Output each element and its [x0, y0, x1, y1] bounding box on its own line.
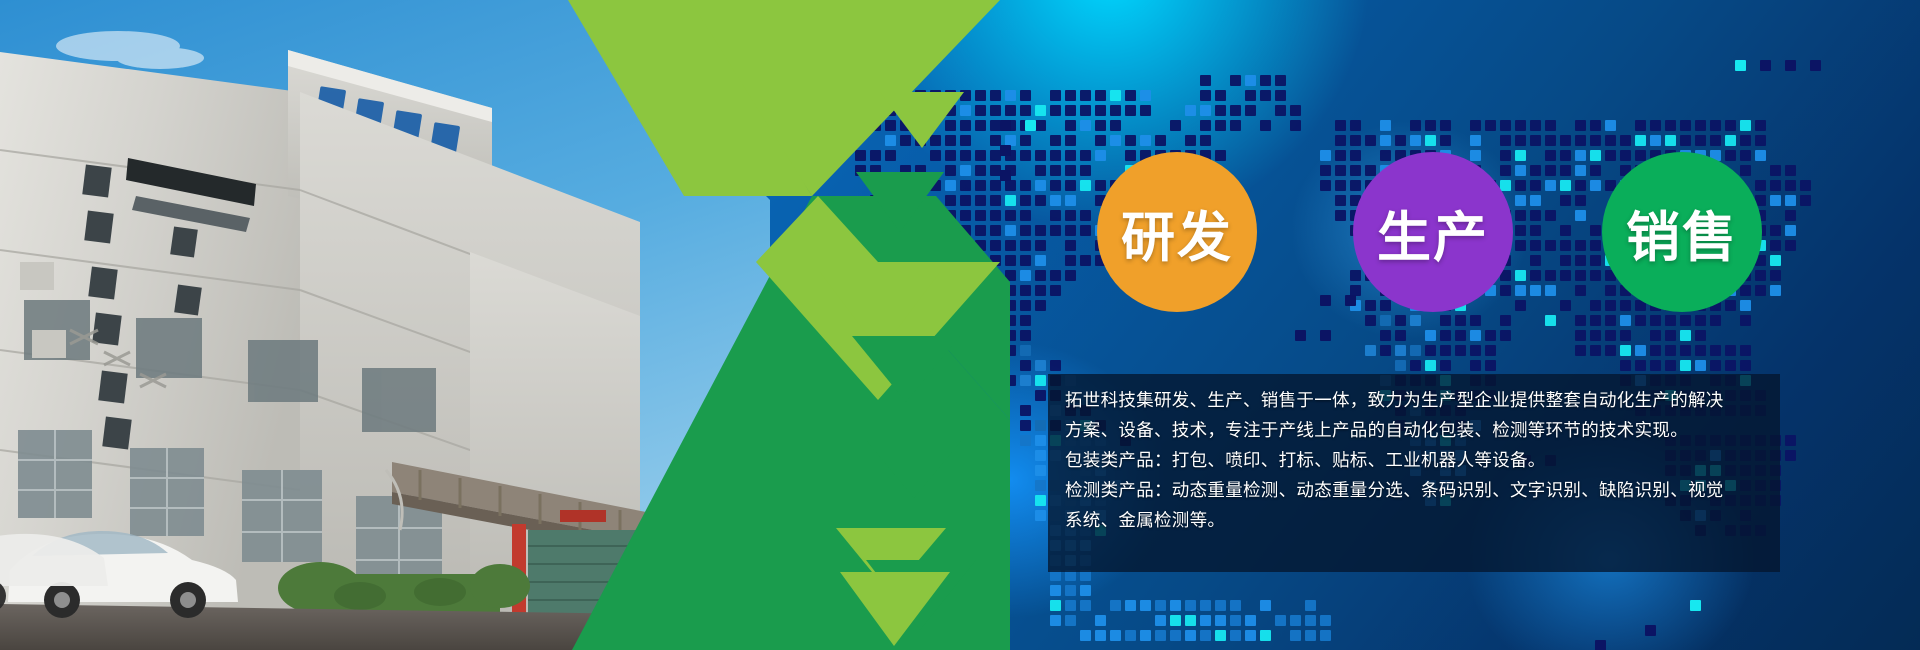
map-dot	[1560, 270, 1571, 281]
map-dot	[1545, 285, 1556, 296]
map-dot	[975, 195, 986, 206]
map-dot	[960, 165, 971, 176]
map-dot	[1695, 120, 1706, 131]
map-dot	[1575, 135, 1586, 146]
map-dot	[1020, 270, 1031, 281]
map-dot	[1575, 240, 1586, 251]
map-dot	[1785, 435, 1796, 446]
map-dot	[1560, 165, 1571, 176]
map-dot	[1515, 270, 1526, 281]
map-dot	[1125, 630, 1136, 641]
map-dot	[1680, 330, 1691, 341]
map-dot	[1530, 285, 1541, 296]
map-dot	[990, 225, 1001, 236]
map-dot	[1650, 120, 1661, 131]
map-dot	[1110, 600, 1121, 611]
map-dot	[1470, 315, 1481, 326]
map-dot	[1470, 135, 1481, 146]
map-dot	[1620, 330, 1631, 341]
map-dot	[1530, 195, 1541, 206]
map-dot	[1770, 180, 1781, 191]
map-dot	[1605, 150, 1616, 161]
map-dot	[930, 285, 941, 296]
map-dot	[915, 135, 926, 146]
map-dot	[1710, 345, 1721, 356]
map-dot	[1500, 315, 1511, 326]
map-dot	[1020, 180, 1031, 191]
map-dot	[990, 315, 1001, 326]
map-dot	[1080, 600, 1091, 611]
map-dot	[1380, 150, 1391, 161]
map-dot	[1755, 120, 1766, 131]
map-dot	[1095, 150, 1106, 161]
map-dot	[1725, 345, 1736, 356]
map-dot	[1290, 120, 1301, 131]
map-dot	[1545, 270, 1556, 281]
map-dot	[900, 165, 911, 176]
description-text-block: 拓世科技集研发、生产、销售于一体，致力为生产型企业提供整套自动化生产的解决方案、…	[1065, 386, 1775, 536]
map-dot	[885, 195, 896, 206]
map-dot	[1080, 120, 1091, 131]
map-dot	[1035, 255, 1046, 266]
map-dot	[870, 195, 881, 206]
map-dot	[1350, 150, 1361, 161]
map-dot	[1035, 465, 1046, 476]
map-dot	[1215, 105, 1226, 116]
circle-label-production: 生产	[1377, 193, 1489, 272]
map-dot	[930, 255, 941, 266]
map-dot	[1395, 315, 1406, 326]
map-dot	[1515, 180, 1526, 191]
map-dot	[1305, 630, 1316, 641]
map-dot	[885, 150, 896, 161]
map-dot	[960, 150, 971, 161]
map-dot	[1710, 315, 1721, 326]
map-dot	[1035, 165, 1046, 176]
map-dot	[1020, 150, 1031, 161]
map-dot	[1035, 285, 1046, 296]
map-dot	[870, 120, 881, 131]
map-dot	[1095, 180, 1106, 191]
map-dot	[1380, 120, 1391, 131]
map-dot	[960, 345, 971, 356]
map-dot	[1620, 150, 1631, 161]
map-dot	[900, 225, 911, 236]
map-dot	[1260, 630, 1271, 641]
map-dot	[1380, 345, 1391, 356]
map-dot	[930, 105, 941, 116]
map-dot	[1050, 135, 1061, 146]
map-dot	[1500, 180, 1511, 191]
map-dot	[1500, 120, 1511, 131]
map-dot	[1575, 165, 1586, 176]
map-dot	[1185, 615, 1196, 626]
map-dot	[960, 285, 971, 296]
map-dot	[1620, 300, 1631, 311]
map-dot	[1560, 150, 1571, 161]
map-dot	[1215, 600, 1226, 611]
map-dot	[1560, 300, 1571, 311]
map-dot	[1560, 255, 1571, 266]
map-dot	[855, 150, 866, 161]
map-dot	[1215, 120, 1226, 131]
map-dot	[1080, 165, 1091, 176]
map-dot	[1305, 615, 1316, 626]
map-dot	[1230, 105, 1241, 116]
map-dot	[1380, 135, 1391, 146]
map-dot	[1785, 60, 1796, 71]
map-dot	[1710, 120, 1721, 131]
map-dot	[1635, 150, 1646, 161]
map-dot	[1245, 75, 1256, 86]
map-dot	[930, 180, 941, 191]
map-dot	[1575, 285, 1586, 296]
map-dot	[945, 165, 956, 176]
map-dot	[1215, 90, 1226, 101]
map-dot	[1050, 195, 1061, 206]
map-dot	[1345, 295, 1356, 306]
map-dot	[1020, 300, 1031, 311]
description-line: 检测类产品：动态重量检测、动态重量分选、条码识别、文字识别、缺陷识别、视觉	[1065, 476, 1775, 506]
map-dot	[1635, 315, 1646, 326]
map-dot	[1410, 360, 1421, 371]
map-dot	[1080, 180, 1091, 191]
circle-research-development[interactable]: 研发	[1097, 152, 1257, 312]
map-dot	[900, 240, 911, 251]
map-dot	[1320, 295, 1331, 306]
map-dot	[915, 240, 926, 251]
map-dot	[1000, 145, 1011, 156]
map-dot	[960, 105, 971, 116]
map-dot	[1680, 135, 1691, 146]
map-dot	[1170, 120, 1181, 131]
map-dot	[1545, 135, 1556, 146]
map-dot	[1755, 285, 1766, 296]
circle-sales[interactable]: 销售	[1602, 152, 1762, 312]
map-dot	[1050, 150, 1061, 161]
map-dot	[930, 210, 941, 221]
map-dot	[1680, 315, 1691, 326]
map-dot	[1515, 225, 1526, 236]
map-dot	[1595, 640, 1606, 650]
map-dot	[1760, 60, 1771, 71]
map-dot	[1005, 270, 1016, 281]
map-dot	[1275, 615, 1286, 626]
map-dot	[1335, 135, 1346, 146]
map-dot	[1125, 105, 1136, 116]
map-dot	[1005, 105, 1016, 116]
map-dot	[1275, 90, 1286, 101]
circle-label-research-development: 研发	[1121, 193, 1233, 272]
map-dot	[1050, 165, 1061, 176]
map-dot	[1560, 225, 1571, 236]
map-dot	[900, 105, 911, 116]
map-dot	[1035, 240, 1046, 251]
map-dot	[1740, 315, 1751, 326]
map-dot	[1035, 450, 1046, 461]
map-dot	[1215, 150, 1226, 161]
map-dot	[1770, 195, 1781, 206]
map-dot	[1515, 165, 1526, 176]
map-dot	[960, 210, 971, 221]
map-dot	[1200, 615, 1211, 626]
map-dot	[1725, 150, 1736, 161]
map-dot	[1365, 345, 1376, 356]
map-dot	[915, 105, 926, 116]
map-dot	[1050, 270, 1061, 281]
map-dot	[960, 225, 971, 236]
map-dot	[1185, 105, 1196, 116]
circle-label-sales: 销售	[1626, 193, 1738, 272]
map-dot	[945, 90, 956, 101]
map-dot	[1050, 585, 1061, 596]
map-dot	[1020, 405, 1031, 416]
map-dot	[1125, 135, 1136, 146]
map-dot	[1590, 135, 1601, 146]
map-dot	[1110, 135, 1121, 146]
map-dot	[960, 120, 971, 131]
map-dot	[1515, 195, 1526, 206]
map-dot	[1065, 240, 1076, 251]
map-dot	[1695, 360, 1706, 371]
map-dot	[1200, 105, 1211, 116]
map-dot	[1200, 600, 1211, 611]
map-dot	[1035, 270, 1046, 281]
map-dot	[1515, 285, 1526, 296]
map-dot	[1725, 300, 1736, 311]
map-dot	[1680, 120, 1691, 131]
map-dot	[1035, 150, 1046, 161]
map-dot	[1095, 630, 1106, 641]
map-dot	[975, 180, 986, 191]
map-dot	[1545, 315, 1556, 326]
map-dot	[1665, 120, 1676, 131]
map-dot	[1335, 195, 1346, 206]
map-dot	[1035, 375, 1046, 386]
map-dot	[1185, 630, 1196, 641]
map-dot	[1065, 255, 1076, 266]
map-dot	[1440, 345, 1451, 356]
map-dot	[1605, 285, 1616, 296]
map-dot	[1050, 285, 1061, 296]
map-dot	[1485, 360, 1496, 371]
factory-building-photo	[0, 0, 770, 650]
map-dot	[1005, 330, 1016, 341]
map-dot	[885, 120, 896, 131]
map-dot	[1035, 300, 1046, 311]
map-dot	[1560, 180, 1571, 191]
map-dot	[1020, 255, 1031, 266]
map-dot	[1035, 435, 1046, 446]
map-dot	[1650, 360, 1661, 371]
map-dot	[1530, 225, 1541, 236]
map-dot	[1590, 150, 1601, 161]
map-dot	[1320, 180, 1331, 191]
map-dot	[1005, 375, 1016, 386]
map-dot	[1110, 630, 1121, 641]
map-dot	[1005, 195, 1016, 206]
map-dot	[1035, 360, 1046, 371]
map-dot	[1200, 135, 1211, 146]
map-dot	[1260, 600, 1271, 611]
map-dot	[975, 330, 986, 341]
map-dot	[1680, 360, 1691, 371]
map-dot	[1215, 630, 1226, 641]
map-dot	[1575, 120, 1586, 131]
map-dot	[1410, 315, 1421, 326]
map-dot	[1740, 285, 1751, 296]
description-line: 包装类产品：打包、喷印、打标、贴标、工业机器人等设备。	[1065, 446, 1775, 476]
map-dot	[1635, 120, 1646, 131]
map-dot	[1335, 150, 1346, 161]
map-dot	[1530, 210, 1541, 221]
map-dot	[1290, 615, 1301, 626]
map-dot	[1545, 120, 1556, 131]
map-dot	[1590, 120, 1601, 131]
map-dot	[1295, 330, 1306, 341]
map-dot	[930, 135, 941, 146]
map-dot	[1500, 330, 1511, 341]
map-dot	[1395, 135, 1406, 146]
map-dot	[1110, 120, 1121, 131]
map-dot	[1230, 630, 1241, 641]
map-dot	[1735, 60, 1746, 71]
map-dot	[945, 225, 956, 236]
map-dot	[1575, 210, 1586, 221]
map-dot	[1395, 330, 1406, 341]
map-dot	[1035, 510, 1046, 521]
map-dot	[1620, 135, 1631, 146]
map-dot	[1575, 330, 1586, 341]
map-dot	[1155, 135, 1166, 146]
map-dot	[1065, 225, 1076, 236]
map-dot	[885, 225, 896, 236]
map-dot	[1560, 135, 1571, 146]
map-dot	[1590, 240, 1601, 251]
map-dot	[1740, 120, 1751, 131]
map-dot	[1545, 180, 1556, 191]
map-dot	[1050, 105, 1061, 116]
map-dot	[900, 90, 911, 101]
map-dot	[1320, 165, 1331, 176]
map-dot	[1740, 150, 1751, 161]
map-dot	[1320, 330, 1331, 341]
map-dot	[1770, 225, 1781, 236]
description-line: 系统、金属检测等。	[1065, 506, 1775, 536]
map-dot	[1335, 210, 1346, 221]
map-dot	[900, 180, 911, 191]
map-dot	[1035, 180, 1046, 191]
map-dot	[975, 150, 986, 161]
map-dot	[1545, 150, 1556, 161]
map-dot	[1305, 600, 1316, 611]
map-dot	[1620, 345, 1631, 356]
map-dot	[1575, 180, 1586, 191]
map-dot	[1620, 315, 1631, 326]
map-dot	[990, 345, 1001, 356]
map-dot	[1020, 285, 1031, 296]
map-dot	[1020, 210, 1031, 221]
map-dot	[1590, 255, 1601, 266]
map-dot	[1080, 150, 1091, 161]
map-dot	[1755, 270, 1766, 281]
map-dot	[1650, 330, 1661, 341]
description-line: 方案、设备、技术，专注于产线上产品的自动化包装、检测等环节的技术实现。	[1065, 416, 1775, 446]
circle-production[interactable]: 生产	[1353, 152, 1513, 312]
map-dot	[1020, 360, 1031, 371]
map-dot	[990, 195, 1001, 206]
map-dot	[945, 195, 956, 206]
map-dot	[975, 345, 986, 356]
map-dot	[1350, 180, 1361, 191]
map-dot	[1810, 60, 1821, 71]
map-dot	[960, 195, 971, 206]
map-dot	[990, 135, 1001, 146]
map-dot	[1665, 135, 1676, 146]
map-dot	[915, 225, 926, 236]
map-dot	[1455, 330, 1466, 341]
map-dot	[1530, 135, 1541, 146]
map-dot	[945, 285, 956, 296]
map-dot	[1755, 135, 1766, 146]
map-dot	[1560, 240, 1571, 251]
map-dot	[1575, 345, 1586, 356]
map-dot	[1470, 345, 1481, 356]
map-dot	[1245, 615, 1256, 626]
map-dot	[1545, 210, 1556, 221]
map-dot	[1200, 630, 1211, 641]
map-dot	[1440, 330, 1451, 341]
map-dot	[1410, 345, 1421, 356]
map-dot	[1725, 135, 1736, 146]
map-dot	[1005, 300, 1016, 311]
map-dot	[1320, 630, 1331, 641]
map-dot	[1695, 330, 1706, 341]
map-dot	[1605, 315, 1616, 326]
map-dot	[1515, 300, 1526, 311]
map-dot	[1275, 75, 1286, 86]
map-dot	[1200, 75, 1211, 86]
map-dot	[915, 255, 926, 266]
map-dot	[1200, 90, 1211, 101]
map-dot	[1470, 360, 1481, 371]
map-dot	[930, 225, 941, 236]
map-dot	[1155, 600, 1166, 611]
map-dot	[1380, 330, 1391, 341]
map-dot	[1590, 300, 1601, 311]
map-dot	[885, 135, 896, 146]
map-dot	[1035, 495, 1046, 506]
map-dot	[1785, 240, 1796, 251]
map-dot	[900, 255, 911, 266]
map-dot	[1470, 330, 1481, 341]
map-dot	[1770, 270, 1781, 281]
corporate-hero-banner: 研发 生产 销售 拓世科技集研发、生产、销售于一体，致力为生产型企业提供整套自动…	[0, 0, 1920, 650]
map-dot	[1020, 315, 1031, 326]
map-dot	[1440, 360, 1451, 371]
map-dot	[1080, 585, 1091, 596]
map-dot	[1635, 360, 1646, 371]
map-dot	[1695, 135, 1706, 146]
map-dot	[990, 120, 1001, 131]
map-dot	[960, 135, 971, 146]
map-dot	[990, 180, 1001, 191]
map-dot	[1650, 315, 1661, 326]
map-dot	[870, 150, 881, 161]
map-dot	[990, 300, 1001, 311]
map-dot	[975, 105, 986, 116]
map-dot	[1515, 120, 1526, 131]
